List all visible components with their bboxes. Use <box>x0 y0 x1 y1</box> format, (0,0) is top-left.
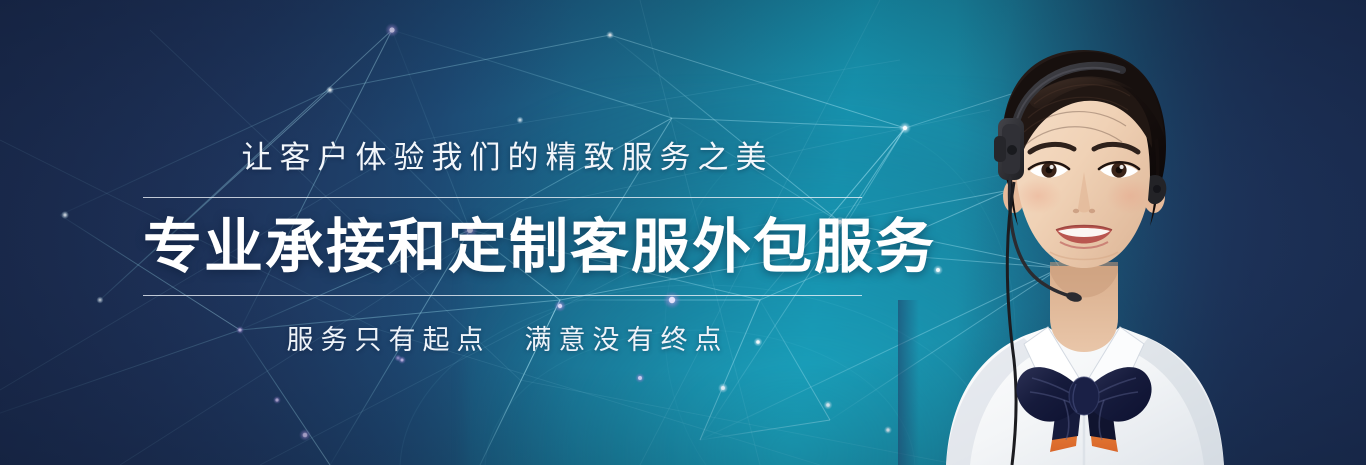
bottom-tagline: 服务只有起点 满意没有终点 <box>143 296 862 357</box>
banner-copy: 让客户体验我们的精致服务之美 专业承接和定制客服外包服务 服务只有起点 满意没有… <box>143 118 878 357</box>
customer-service-agent-photo <box>898 0 1268 465</box>
page-title: 专业承接和定制客服外包服务 <box>143 198 878 295</box>
hero-banner: 让客户体验我们的精致服务之美 专业承接和定制客服外包服务 服务只有起点 满意没有… <box>0 0 1366 465</box>
top-tagline: 让客户体验我们的精致服务之美 <box>143 118 862 197</box>
